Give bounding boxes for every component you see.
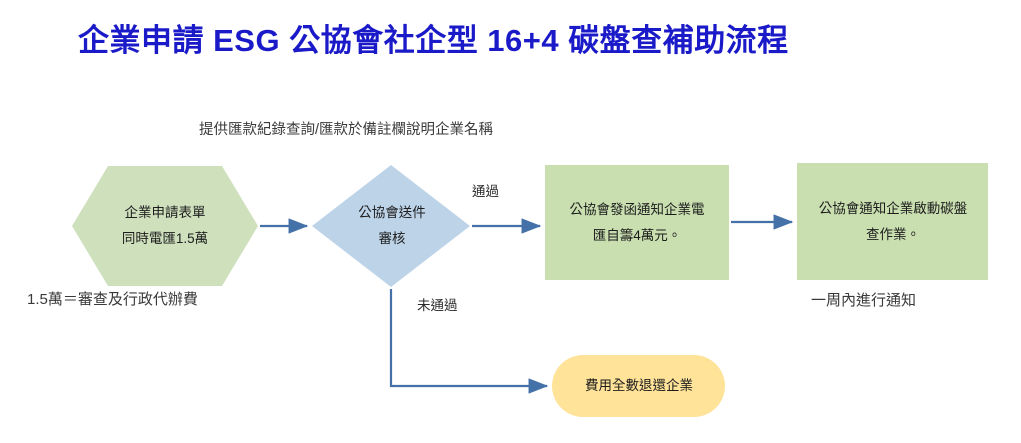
notify-note: 一周內進行通知 bbox=[811, 291, 916, 311]
node-start-carbon-audit[interactable] bbox=[797, 163, 988, 280]
fee-note: 1.5萬＝審查及行政代辦費 bbox=[27, 290, 198, 310]
node-apply-form[interactable] bbox=[72, 166, 258, 286]
node-notice-wire-40k[interactable] bbox=[545, 165, 729, 280]
connector-review-to-refund bbox=[391, 289, 547, 386]
edge-label-pass: 通過 bbox=[472, 180, 499, 200]
node-review-decision[interactable] bbox=[312, 165, 470, 287]
edge-label-fail: 未通過 bbox=[417, 294, 458, 314]
top-note: 提供匯款紀錄查詢/匯款於備註欄說明企業名稱 bbox=[199, 121, 493, 140]
diagram-canvas bbox=[0, 0, 1021, 443]
node-full-refund[interactable] bbox=[552, 355, 725, 417]
